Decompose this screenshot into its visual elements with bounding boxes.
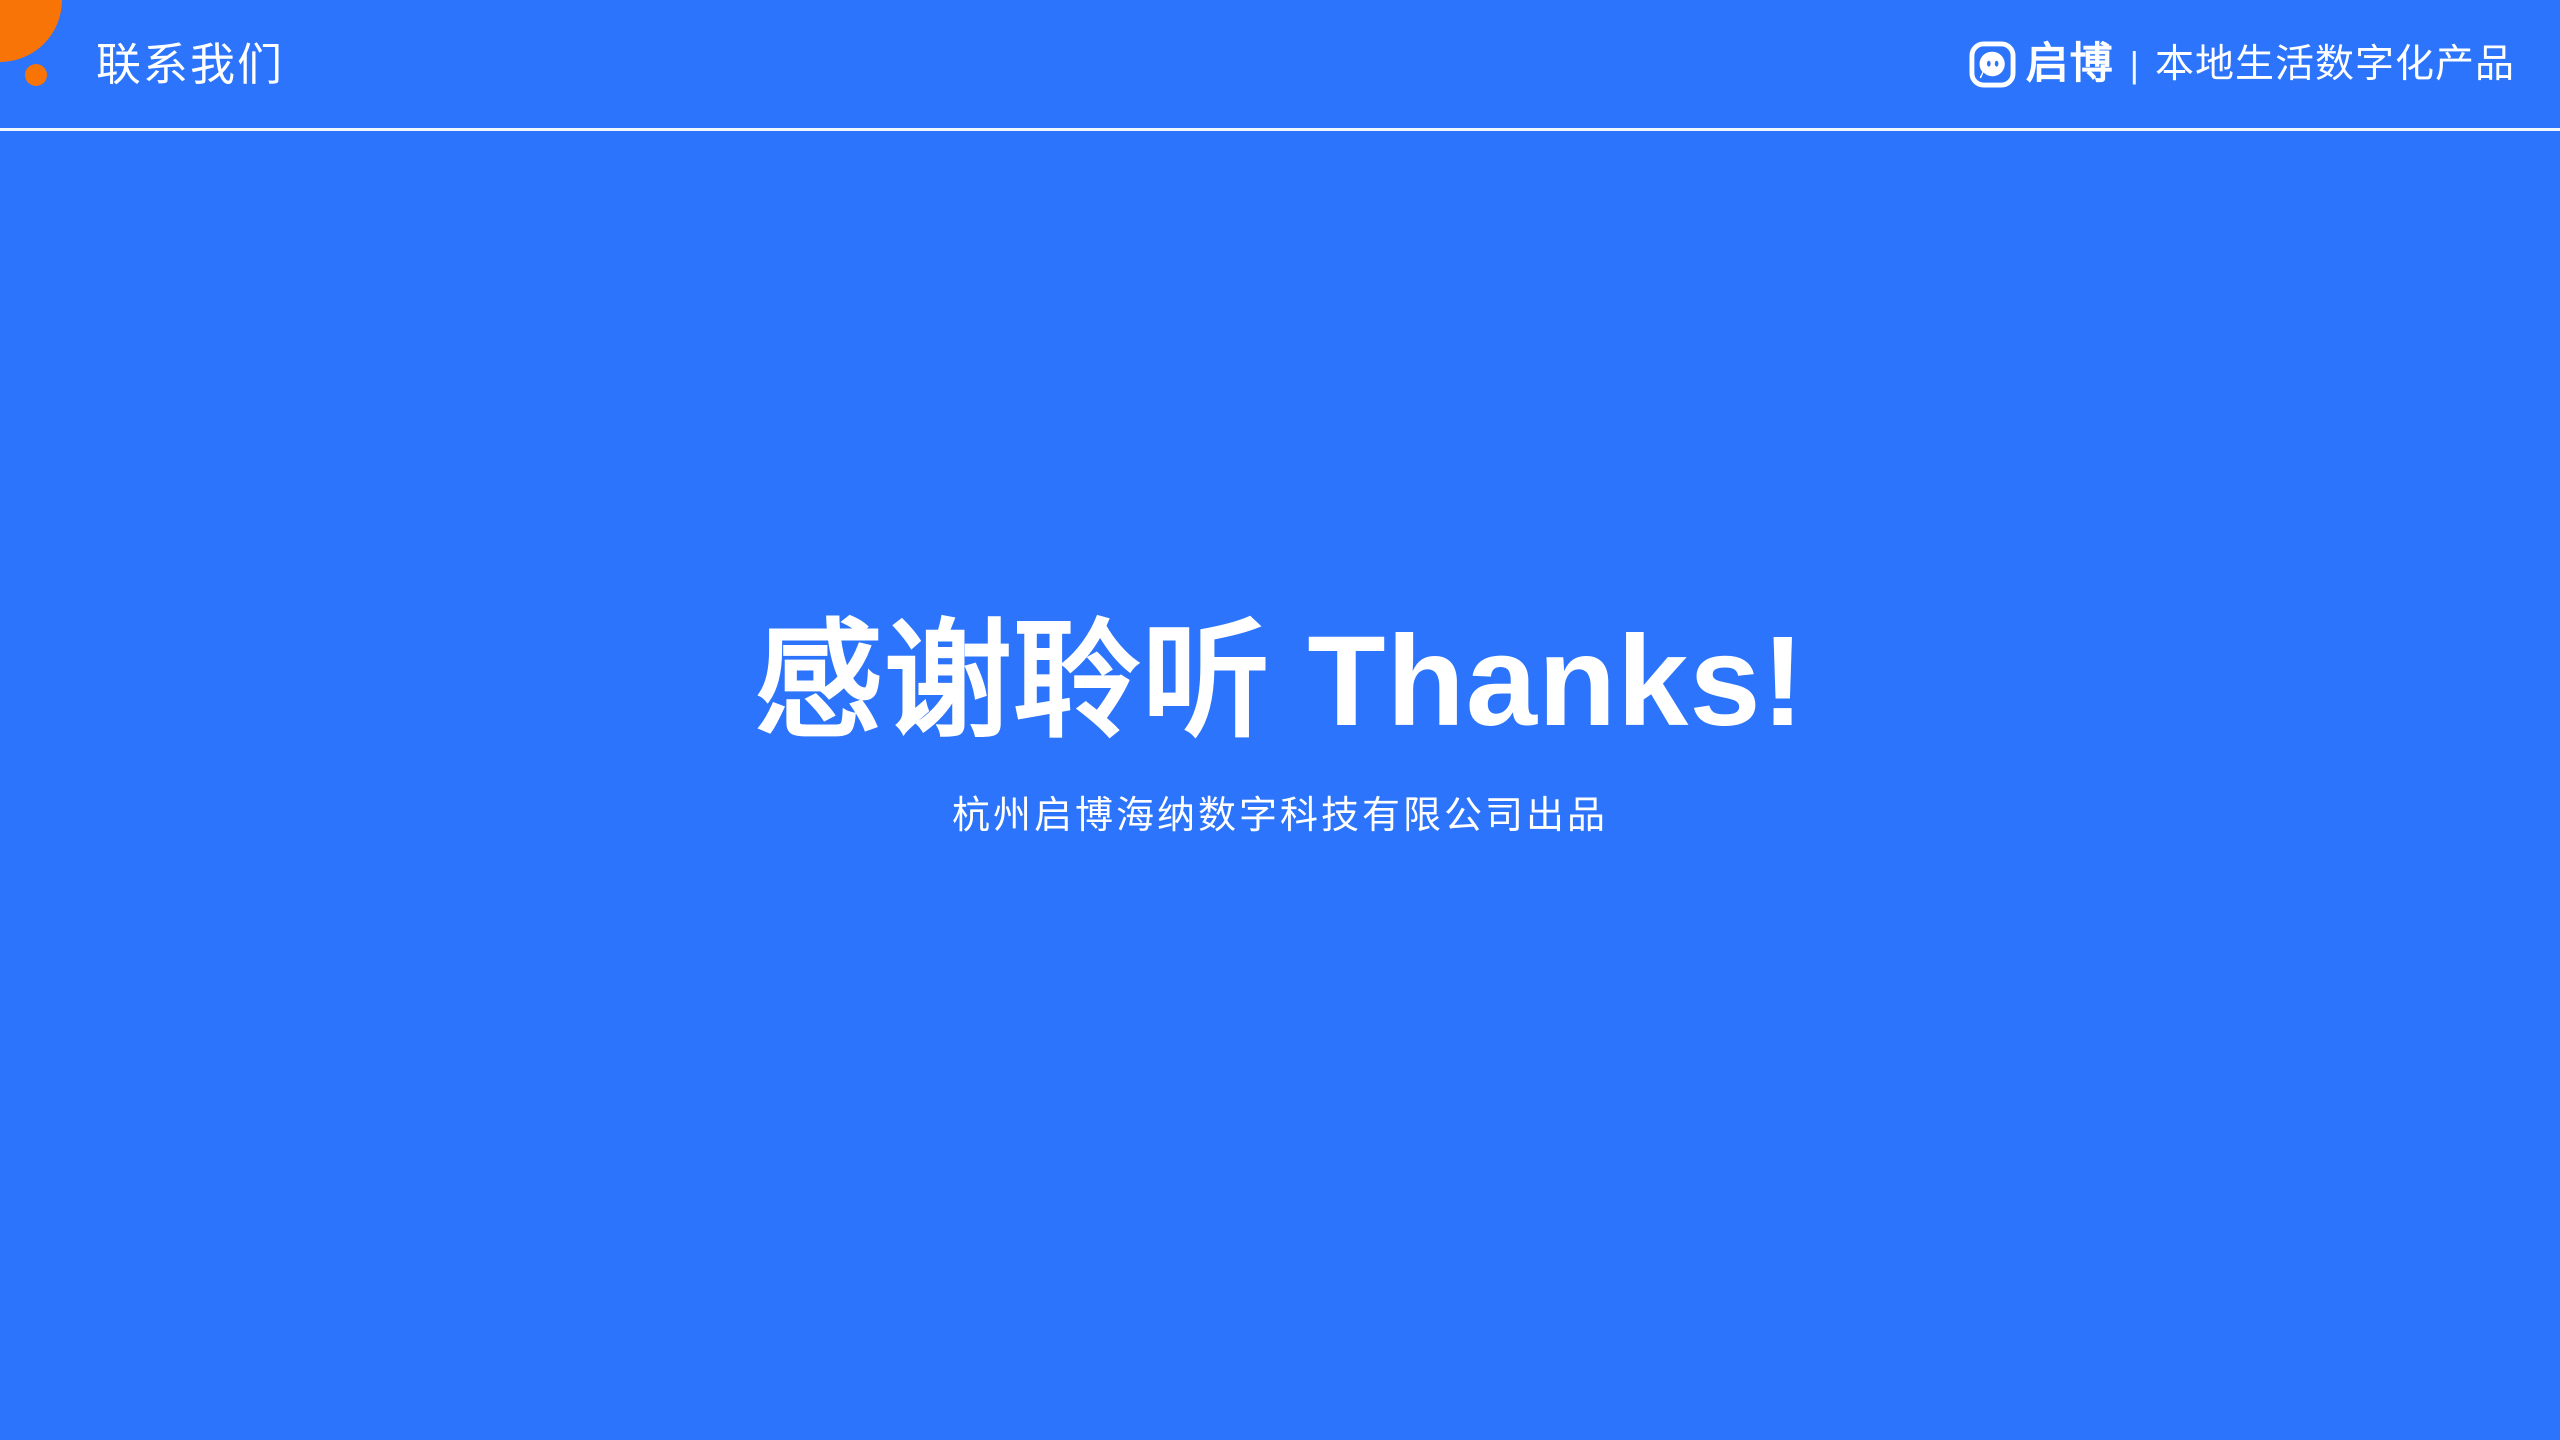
brand-separator: | — [2130, 47, 2139, 83]
brand-tagline: 本地生活数字化产品 — [2155, 45, 2515, 84]
brand-lockup: 启博 | 本地生活数字化产品 — [1969, 41, 2515, 88]
slide-header: 联系我们 启博 | 本地生活数字化产品 — [0, 0, 2560, 129]
main-title: 感谢聆听 Thanks! — [755, 615, 1805, 749]
header-title: 联系我们 — [96, 42, 284, 87]
main-subtitle: 杭州启博海纳数字科技有限公司出品 — [952, 794, 1608, 840]
presentation-slide: 联系我们 启博 | 本地生活数字化产品 感谢聆听 Thanks! — [0, 0, 2560, 1440]
chat-bubble-smiley-icon — [1969, 41, 2016, 88]
slide-body: 感谢聆听 Thanks! 杭州启博海纳数字科技有限公司出品 — [0, 131, 2560, 1440]
brand-name: 启博 — [2026, 43, 2114, 86]
